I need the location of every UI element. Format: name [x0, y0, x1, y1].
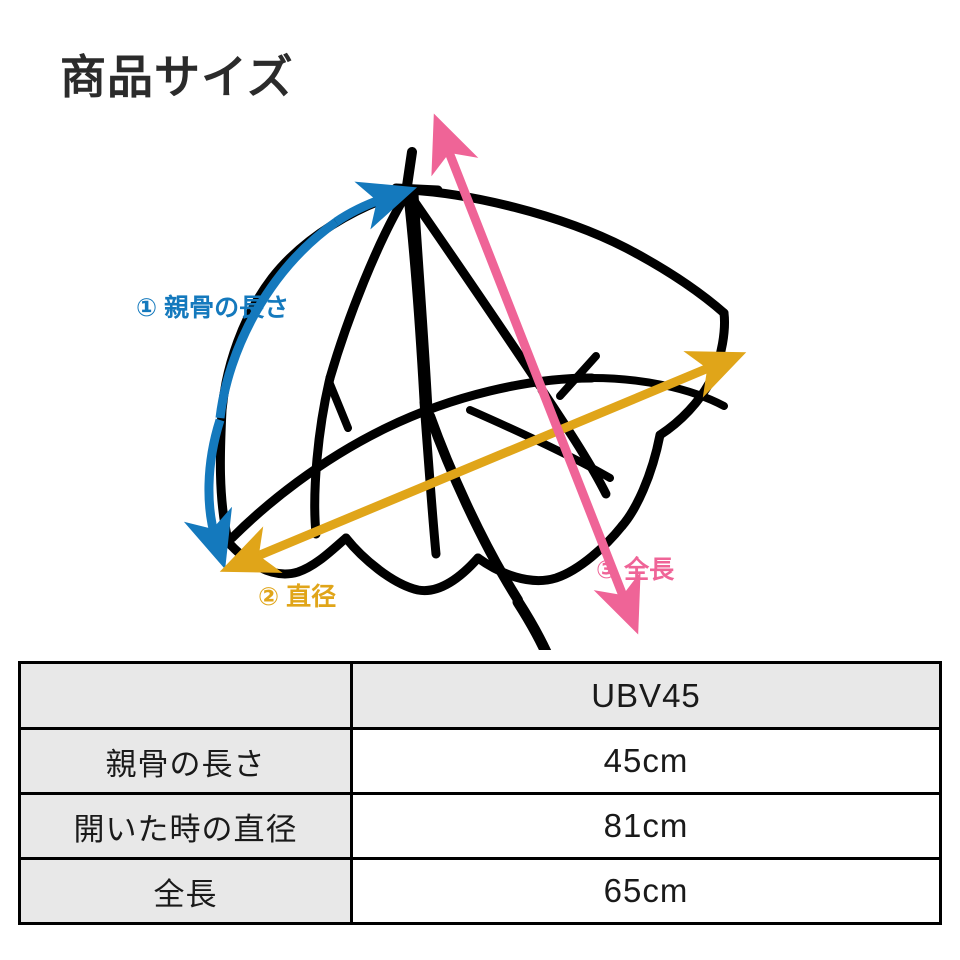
table-row-label: 親骨の長さ [20, 729, 352, 794]
diameter-label: ② 直径 [258, 585, 336, 610]
table-row-label: 開いた時の直径 [20, 794, 352, 859]
table-row-label: 全長 [20, 859, 352, 924]
table-row: 全長 65cm [20, 859, 941, 924]
table-row: 親骨の長さ 45cm [20, 729, 941, 794]
page-title: 商品サイズ [60, 52, 294, 103]
size-table: UBV45 親骨の長さ 45cm 開いた時の直径 81cm 全長 65cm [18, 661, 942, 925]
product-size-infographic: 商品サイズ [0, 0, 960, 960]
table-row-value: 45cm [352, 729, 941, 794]
table-header-row: UBV45 [20, 663, 941, 729]
table-row: 開いた時の直径 81cm [20, 794, 941, 859]
table-header-model-cell: UBV45 [352, 663, 941, 729]
total-length-label: ③ 全長 [596, 558, 674, 583]
umbrella-diagram: ① 親骨の長さ ② 直径 ③ 全長 [0, 110, 960, 650]
table-header-blank-cell [20, 663, 352, 729]
table-row-value: 65cm [352, 859, 941, 924]
umbrella-illustration [0, 110, 960, 650]
rib-length-arrow-head [336, 197, 388, 222]
table-row-value: 81cm [352, 794, 941, 859]
rib-length-label: ① 親骨の長さ [136, 296, 289, 321]
